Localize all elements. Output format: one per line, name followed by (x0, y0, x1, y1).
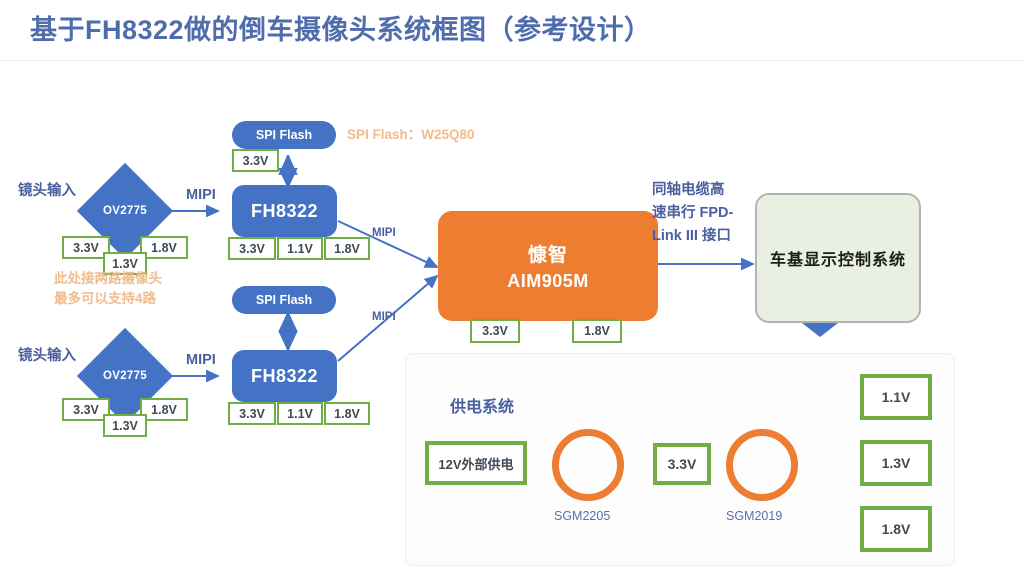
display-control-system[interactable]: 车基显示控制系统 (755, 193, 921, 323)
camera2-rail-1v8: 1.8V (140, 398, 188, 421)
isp1-out-mipi-label: MIPI (372, 227, 396, 239)
isp1-rail-1v8: 1.8V (324, 237, 370, 260)
isp1-rail-3v3: 3.3V (228, 237, 276, 260)
diagram-canvas: 镜头输入 OV2775 3.3V 1.8V 1.3V MIPI FH8322 3… (0, 60, 1024, 584)
power-system-title: 供电系统 (450, 393, 514, 417)
camera1-input-label: 镜头输入 (18, 179, 76, 200)
camera1-mipi-label: MIPI (186, 187, 216, 203)
fpd-link-note-line2: 速串行 FPD- (652, 201, 733, 222)
soc-rail-1v8: 1.8V (572, 319, 622, 343)
isp1-rail-1v1: 1.1V (277, 237, 323, 260)
spi-flash-note: SPI Flash：W25Q80 (347, 123, 475, 143)
power-output-1v3: 1.3V (860, 440, 932, 486)
camera2-isp-fh8322[interactable]: FH8322 (232, 350, 337, 402)
power-source-12v: 12V外部供电 (425, 441, 527, 485)
power-output-1v1: 1.1V (860, 374, 932, 420)
soc-aim905m[interactable]: 慷智 AIM905M (438, 211, 658, 321)
converter-sgm2205-ring[interactable] (552, 429, 624, 501)
isp2-out-mipi-label: MIPI (372, 311, 396, 323)
fpd-link-note-line1: 同轴电缆高 (652, 178, 725, 199)
converter-sgm2019-ring[interactable] (726, 429, 798, 501)
isp2-rail-1v8: 1.8V (324, 402, 370, 425)
soc-brand: 慷智 (528, 240, 568, 267)
page-title: 基于FH8322做的倒车摄像头系统框图（参考设计） (30, 8, 652, 47)
camera1-rail-1v8: 1.8V (140, 236, 188, 259)
fpd-link-note-line3: Link III 接口 (652, 224, 731, 245)
camera2-mipi-label: MIPI (186, 352, 216, 368)
isp2-rail-3v3: 3.3V (228, 402, 276, 425)
camera2-rail-1v3: 1.3V (103, 414, 147, 437)
camera1-isp-fh8322[interactable]: FH8322 (232, 185, 337, 237)
camera1-spi-flash[interactable]: SPI Flash (232, 121, 336, 149)
converter-sgm2205-label: SGM2205 (554, 509, 610, 523)
camera-note-line2: 最多可以支持4路 (54, 289, 156, 309)
soc-part: AIM905M (507, 271, 589, 292)
soc-rail-3v3: 3.3V (470, 319, 520, 343)
camera-note-line1: 此处接两路摄像头 (54, 269, 162, 289)
power-output-1v8: 1.8V (860, 506, 932, 552)
monitor-stand (802, 323, 838, 337)
camera1-flash-rail: 3.3V (232, 149, 279, 172)
camera2-input-label: 镜头输入 (18, 344, 76, 365)
camera2-spi-flash[interactable]: SPI Flash (232, 286, 336, 314)
power-rail-3v3: 3.3V (653, 443, 711, 485)
isp2-rail-1v1: 1.1V (277, 402, 323, 425)
title-bar: 基于FH8322做的倒车摄像头系统框图（参考设计） (0, 0, 1024, 60)
converter-sgm2019-label: SGM2019 (726, 509, 782, 523)
